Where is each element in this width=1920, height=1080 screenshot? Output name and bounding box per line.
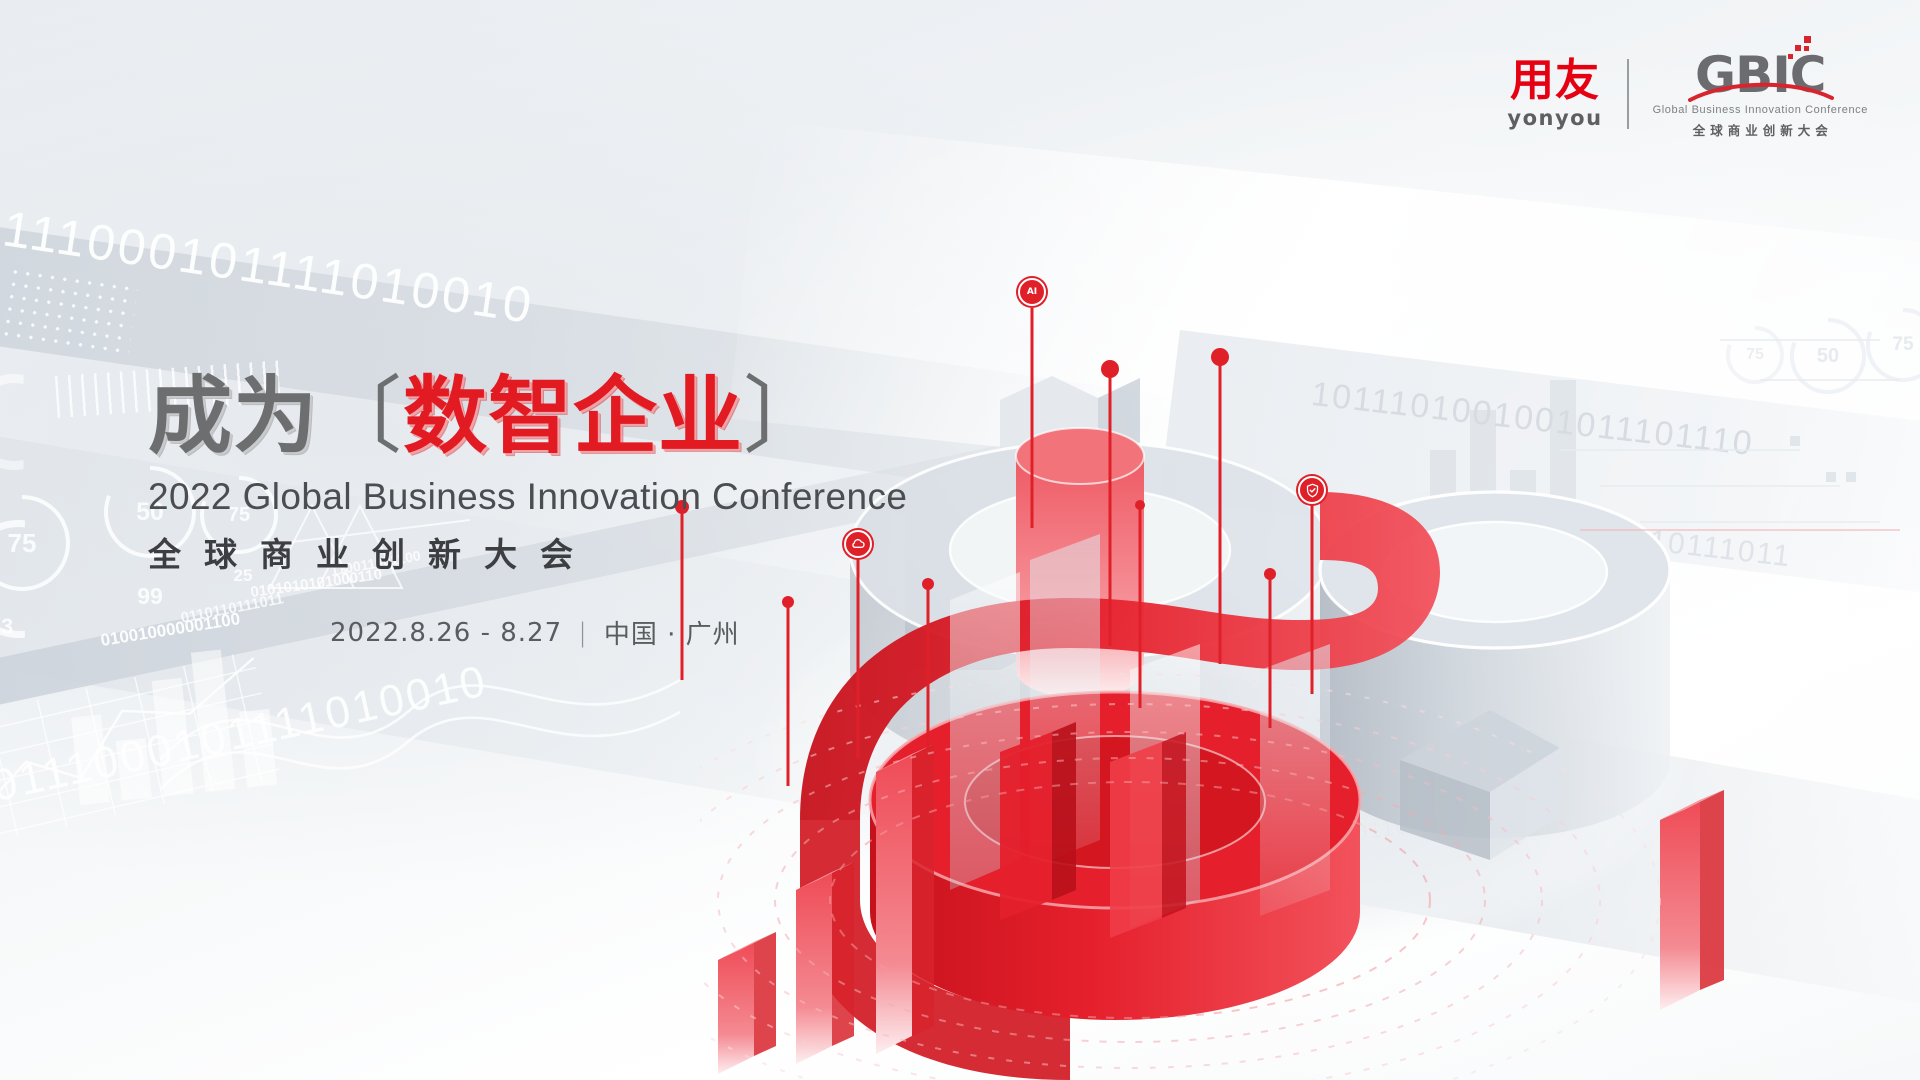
circuit-traces <box>1560 340 1900 522</box>
gauge-value: 63 <box>0 614 13 640</box>
gauge-63-left: 63 <box>0 592 36 662</box>
pin-stem <box>1031 308 1034 528</box>
headline-prefix: 成为 <box>148 367 318 465</box>
yonyou-logo-cn: 用友 <box>1510 59 1600 103</box>
yonyou-logo[interactable]: 用友 yonyou <box>1507 59 1602 129</box>
event-meta: 2022.8.26 - 8.27 | 中国 · 广州 <box>330 614 928 651</box>
pin-dot-head <box>1264 568 1276 580</box>
arc-ring-small <box>0 374 62 470</box>
pin-stem <box>1219 364 1222 664</box>
ai-chip-label: AI <box>1027 288 1037 297</box>
arc-ring-large <box>0 520 78 638</box>
logo-divider <box>1627 59 1629 129</box>
pin-stem <box>1269 578 1272 728</box>
background-line-chart <box>0 646 301 845</box>
hero-copy-block: 成为〔数智企业〕 2022 Global Business Innovation… <box>148 372 928 651</box>
subtitle-english: 2022 Global Business Innovation Conferen… <box>148 476 928 518</box>
gbic-mark: GBIC <box>1684 48 1836 102</box>
pin-stem <box>1109 376 1112 646</box>
headline-highlight: 数智企业 <box>403 367 743 465</box>
pin-dot-head <box>1211 348 1229 366</box>
pin-dot-head <box>1135 500 1145 510</box>
gauge-75-left-a: 75 <box>0 495 70 591</box>
right-red-bar <box>1660 790 1724 1010</box>
event-location: 中国 · 广州 <box>604 614 740 651</box>
conference-banner: 0111000101111010010 10111000101111010010… <box>0 0 1920 1080</box>
pin-stem <box>1311 504 1314 694</box>
gbic-pixel-dots-icon <box>1782 36 1816 66</box>
yonyou-logo-en: yonyou <box>1507 108 1602 129</box>
event-date: 2022.8.26 - 8.27 <box>330 618 562 648</box>
headline-bracket-close: 〕 <box>743 367 828 465</box>
binary-strip-lower-left: 10111000101111010010 <box>0 656 492 818</box>
dot-grid-pattern <box>0 265 139 357</box>
logo-lockup[interactable]: 用友 yonyou GBIC <box>1507 48 1868 139</box>
headline-bracket-open: 〔 <box>318 367 403 465</box>
gbic-logo[interactable]: GBIC Global Business Innovation Conferen… <box>1653 48 1868 139</box>
page-title: 成为〔数智企业〕 <box>148 372 928 460</box>
pin-stem <box>1139 508 1142 708</box>
meta-separator: | <box>578 618 588 648</box>
gbic-swoosh-icon <box>1688 78 1834 104</box>
pin-dot-head <box>1101 360 1119 378</box>
background-wave-lines <box>160 640 680 810</box>
shield-check-icon <box>1298 476 1326 504</box>
gauge-value: 75 <box>8 528 37 559</box>
subtitle-chinese: 全球商业创新大会 <box>148 528 928 576</box>
gbic-tagline-cn: 全球商业创新大会 <box>1688 120 1833 139</box>
binary-strip-upper-left: 0111000101111010010 <box>0 195 538 335</box>
gbic-tagline-en: Global Business Innovation Conference <box>1653 104 1868 116</box>
ai-chip-icon: AI <box>1018 278 1046 306</box>
